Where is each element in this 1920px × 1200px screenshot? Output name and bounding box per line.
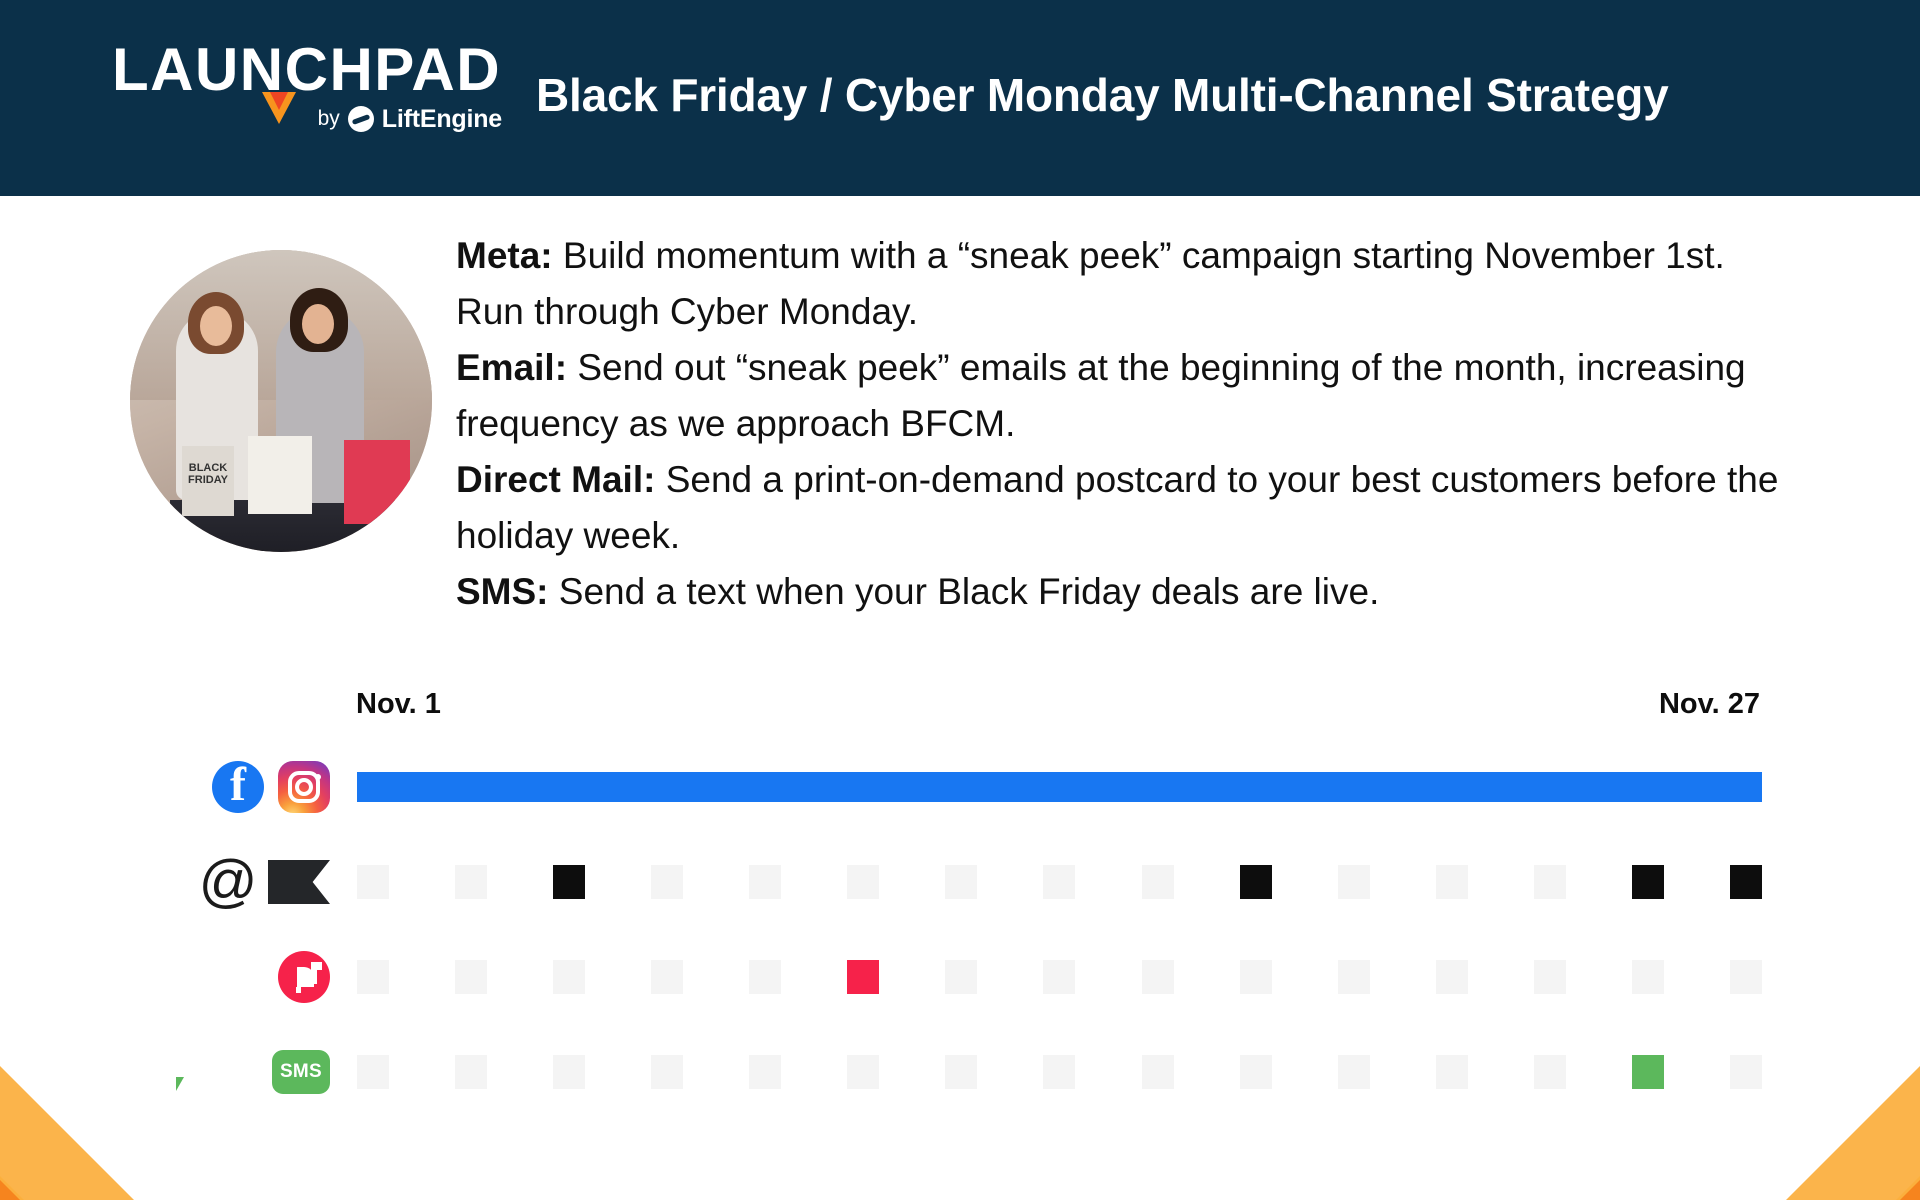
facebook-icon[interactable]: [212, 761, 264, 813]
instagram-icon[interactable]: [278, 761, 330, 813]
timeline-cell-empty[interactable]: [1534, 865, 1566, 899]
timeline-cell-empty[interactable]: [455, 1055, 487, 1089]
timeline-cell-empty[interactable]: [1338, 1055, 1370, 1089]
timeline-cell-empty[interactable]: [1534, 1055, 1566, 1089]
timeline-end-date: Nov. 27: [1620, 688, 1760, 721]
timeline-cell-active[interactable]: [553, 865, 585, 899]
direct-mail-cells: [357, 940, 1762, 1014]
timeline-cell-empty[interactable]: [1240, 960, 1272, 994]
timeline-cell-empty[interactable]: [1043, 1055, 1075, 1089]
timeline-cell-empty[interactable]: [455, 865, 487, 899]
timeline-cell-active[interactable]: [847, 960, 879, 994]
timeline-cell-empty[interactable]: [553, 960, 585, 994]
timeline-cell-empty[interactable]: [553, 1055, 585, 1089]
row-track-meta: [357, 750, 1762, 824]
slide-canvas: LAUNCHPAD by LiftEngine Black Friday / C…: [0, 0, 1920, 1200]
row-track-sms: [357, 1035, 1762, 1109]
channel-label: Meta:: [456, 235, 553, 276]
flame-icon: [262, 92, 296, 124]
header-bar: LAUNCHPAD by LiftEngine Black Friday / C…: [0, 0, 1920, 196]
photo-bag-text: BLACK FRIDAY: [186, 462, 230, 486]
timeline-cell-empty[interactable]: [749, 865, 781, 899]
channel-label: Email:: [456, 347, 567, 388]
timeline-cell-empty[interactable]: [945, 960, 977, 994]
logo-by-text: by: [318, 107, 340, 131]
email-cells: [357, 845, 1762, 919]
timeline-cell-empty[interactable]: [455, 960, 487, 994]
timeline-cell-empty[interactable]: [749, 960, 781, 994]
timeline-cell-empty[interactable]: [357, 960, 389, 994]
strategy-description: Meta: Build momentum with a “sneak peek”…: [456, 228, 1786, 620]
timeline-cell-empty[interactable]: [357, 865, 389, 899]
timeline-cell-empty[interactable]: [651, 1055, 683, 1089]
launchpad-logo: LAUNCHPAD by LiftEngine: [112, 40, 502, 150]
timeline-cell-empty[interactable]: [847, 865, 879, 899]
liftengine-swoosh-icon: [348, 106, 374, 132]
timeline-cell-empty[interactable]: [945, 865, 977, 899]
sms-cells: [357, 1035, 1762, 1109]
row-track-direct-mail: [357, 940, 1762, 1014]
chevron-decoration-left: [0, 870, 330, 1200]
timeline-cell-empty[interactable]: [651, 960, 683, 994]
timeline-cell-empty[interactable]: [357, 1055, 389, 1089]
timeline-cell-active[interactable]: [1240, 865, 1272, 899]
channel-label: SMS:: [456, 571, 549, 612]
timeline-cell-empty[interactable]: [1534, 960, 1566, 994]
timeline-row-meta: [0, 750, 1920, 824]
meta-campaign-bar[interactable]: [357, 772, 1762, 802]
timeline-cell-empty[interactable]: [1240, 1055, 1272, 1089]
logo-brand-text: LiftEngine: [382, 105, 502, 134]
timeline-cell-empty[interactable]: [1142, 960, 1174, 994]
timeline-cell-empty[interactable]: [1142, 1055, 1174, 1089]
row-track-email: [357, 845, 1762, 919]
timeline-cell-empty[interactable]: [1436, 1055, 1468, 1089]
timeline-cell-empty[interactable]: [945, 1055, 977, 1089]
timeline-cell-empty[interactable]: [1338, 865, 1370, 899]
timeline-cell-empty[interactable]: [1142, 865, 1174, 899]
shoppers-photo: BLACK FRIDAY: [130, 250, 432, 552]
timeline-cell-empty[interactable]: [847, 1055, 879, 1089]
logo-byline: by LiftEngine: [318, 104, 502, 134]
timeline-cell-empty[interactable]: [651, 865, 683, 899]
timeline-start-date: Nov. 1: [356, 688, 441, 721]
timeline-cell-empty[interactable]: [1338, 960, 1370, 994]
logo-wordmark: LAUNCHPAD: [112, 40, 502, 100]
channel-label: Direct Mail:: [456, 459, 655, 500]
timeline-cell-empty[interactable]: [1043, 960, 1075, 994]
chevron-decoration-right: [1590, 870, 1920, 1200]
row-icons-meta: [150, 750, 330, 824]
page-title: Black Friday / Cyber Monday Multi-Channe…: [536, 68, 1669, 122]
timeline-cell-empty[interactable]: [1436, 865, 1468, 899]
timeline-cell-empty[interactable]: [1436, 960, 1468, 994]
timeline-cell-empty[interactable]: [749, 1055, 781, 1089]
timeline-cell-empty[interactable]: [1043, 865, 1075, 899]
